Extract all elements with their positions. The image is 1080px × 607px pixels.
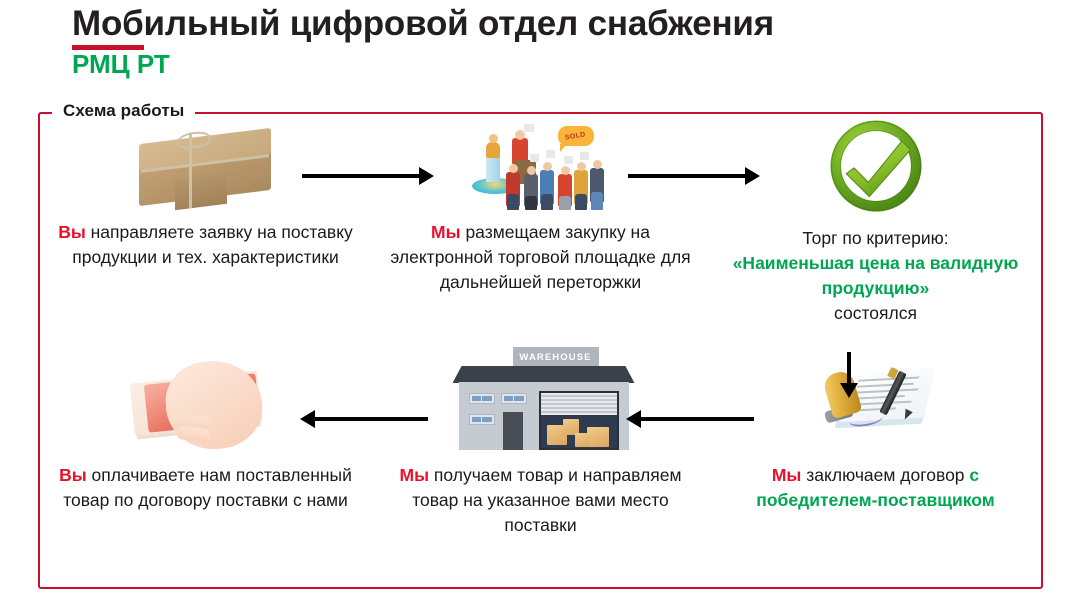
arrow-down-icon: [838, 352, 860, 398]
warehouse-bay-opening: [541, 415, 617, 448]
step-5-caption: Мы получаем товар и направляем товар на …: [373, 463, 708, 538]
auction-paddle: [580, 152, 589, 160]
warehouse-window: [469, 414, 495, 425]
crowd-head: [515, 130, 525, 140]
arrow-left-icon: [626, 408, 754, 430]
auction-paddle: [530, 154, 539, 162]
crowd-head: [593, 160, 602, 169]
podium-figure-head: [489, 134, 498, 143]
warehouse-icon: WAREHOUSE: [441, 347, 641, 455]
green-check-icon: [826, 120, 926, 212]
sold-bubble: SOLD: [558, 126, 594, 146]
step-4-text: заключаем договор: [801, 465, 969, 485]
auction-crowd-icon: SOLD: [466, 120, 616, 212]
page-subtitle: РМЦ РТ: [72, 51, 1032, 78]
auction-paddle: [524, 124, 534, 132]
warehouse-window: [501, 393, 527, 404]
flow-row-bottom: Вы оплачиваете нам поставленный товар по…: [38, 345, 1043, 538]
warehouse-window: [469, 393, 495, 404]
contract-text-line: [853, 395, 904, 400]
warehouse-sign-label: WAREHOUSE: [519, 352, 591, 363]
warehouse-door: [503, 412, 523, 450]
step-2-caption: Мы размещаем закупку на электронной торг…: [373, 220, 708, 295]
frame-legend: Схема работы: [52, 101, 195, 121]
step-5-text: получаем товар и направляем товар на ука…: [412, 465, 681, 535]
flow-step-1: Вы направляете заявку на поставку продук…: [38, 118, 373, 270]
step-1-highlight: Вы: [58, 222, 86, 242]
step-5-highlight: Мы: [400, 465, 430, 485]
warehouse-roof: [453, 366, 635, 383]
contract-text-line: [858, 377, 919, 382]
podium-column: [486, 154, 500, 182]
page-header: Мобильный цифровой отдел снабжения РМЦ Р…: [72, 4, 1032, 78]
step-3-caption: Торг по критерию: «Наименьшая цена на ва…: [708, 226, 1043, 325]
crowd-head: [561, 166, 570, 175]
flow-step-5: WAREHOUSE Мы получаем товар и напр: [373, 345, 708, 538]
cargo-box: [587, 427, 609, 447]
page-title: Мобильный цифровой отдел снабжения: [72, 4, 1032, 43]
warehouse-sign: WAREHOUSE: [513, 347, 599, 367]
arrow-right-icon: [628, 165, 760, 187]
step-3-line2: «Наименьшая цена на валидную продукцию»: [724, 251, 1027, 301]
step-4-highlight: Мы: [772, 465, 802, 485]
arrow-shaft: [847, 352, 851, 384]
step-4-caption: Мы заключаем договор с победителем-поста…: [708, 463, 1043, 513]
crowd-person-legs: [575, 194, 587, 210]
podium-figure: [486, 142, 500, 158]
contract-text-line: [856, 383, 913, 388]
contract-text-line: [855, 388, 918, 393]
step-1-caption: Вы направляете заявку на поставку продук…: [38, 220, 373, 270]
arrow-left-icon: [300, 408, 428, 430]
crowd-head: [509, 164, 518, 173]
step-2-highlight: Мы: [431, 222, 461, 242]
step-5-art: WAREHOUSE: [373, 345, 708, 455]
step-6-highlight: Вы: [59, 465, 87, 485]
auction-paddle: [546, 150, 555, 158]
arrow-shaft: [302, 174, 420, 178]
green-check-svg: [828, 120, 924, 212]
sold-bubble-label: SOLD: [565, 131, 587, 141]
crowd-head: [577, 162, 586, 171]
step-3-line1: Торг по критерию:: [724, 226, 1027, 251]
crowd-person-legs: [591, 192, 603, 210]
crowd-person-legs: [559, 196, 571, 210]
crowd-person-legs: [525, 196, 537, 210]
crowd-head: [527, 166, 536, 175]
step-6-text: оплачиваете нам поставленный товар по до…: [63, 465, 352, 510]
crowd-head: [543, 162, 552, 171]
arrow-head: [745, 167, 760, 185]
step-6-art: [38, 345, 373, 455]
flow-step-2: SOLD: [373, 118, 708, 295]
step-6-caption: Вы оплачиваете нам поставленный товар по…: [38, 463, 373, 513]
arrow-shaft: [314, 417, 428, 421]
money-hand-icon: [126, 355, 286, 455]
parcel-flap: [175, 174, 227, 210]
flow-row-top: Вы направляете заявку на поставку продук…: [38, 118, 1043, 325]
arrow-right-icon: [302, 165, 434, 187]
cargo-box: [575, 433, 589, 447]
parcel-icon: [131, 128, 281, 212]
auction-paddle: [564, 156, 573, 164]
flow-step-3: Торг по критерию: «Наименьшая цена на ва…: [708, 118, 1043, 325]
arrow-shaft: [640, 417, 754, 421]
arrow-shaft: [628, 174, 746, 178]
arrow-head: [626, 410, 641, 428]
arrow-head: [840, 383, 858, 398]
crowd-person-legs: [541, 194, 553, 210]
flow-step-4: Мы заключаем договор с победителем-поста…: [708, 345, 1043, 513]
arrow-head: [419, 167, 434, 185]
crowd-person-legs: [507, 194, 519, 210]
contract-stamp-icon: [811, 360, 941, 440]
step-3-line3: состоялся: [724, 301, 1027, 326]
step-4-art: [708, 345, 1043, 455]
warehouse-roller-shutter: [541, 393, 617, 415]
step-1-text: направляете заявку на поставку продукции…: [72, 222, 353, 267]
arrow-head: [300, 410, 315, 428]
